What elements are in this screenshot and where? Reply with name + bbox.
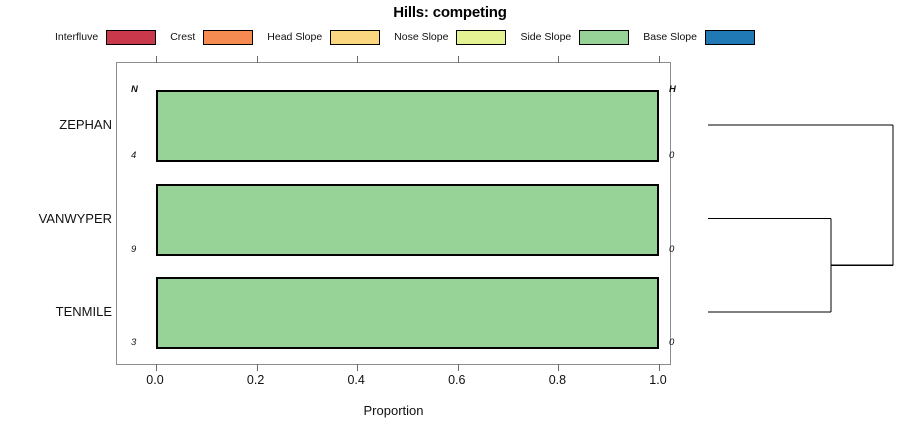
h-value: 0 xyxy=(669,337,674,348)
x-axis-tick xyxy=(156,364,157,371)
legend-color-swatch xyxy=(456,30,506,45)
bar-row xyxy=(117,277,670,349)
x-axis-tick xyxy=(357,364,358,371)
x-axis-tick xyxy=(558,364,559,371)
h-column-header: H xyxy=(669,84,676,95)
x-axis-tick-top xyxy=(458,56,459,63)
x-axis-tick-top xyxy=(257,56,258,63)
legend-label: Nose Slope xyxy=(394,31,448,43)
h-value: 0 xyxy=(669,244,674,255)
n-column-header: N xyxy=(131,84,138,95)
n-value: 3 xyxy=(131,337,136,348)
y-axis-label: VANWYPER xyxy=(0,211,112,226)
x-axis-tick-top xyxy=(659,56,660,63)
x-axis-tick-label: 0.0 xyxy=(125,373,185,387)
bar-segment xyxy=(156,90,659,162)
legend-color-swatch xyxy=(330,30,380,45)
legend-label: Side Slope xyxy=(520,31,571,43)
x-axis-tick-label: 0.4 xyxy=(326,373,386,387)
x-axis-tick-top xyxy=(156,56,157,63)
x-axis-tick xyxy=(257,364,258,371)
y-axis-labels: ZEPHANVANWYPERTENMILE xyxy=(0,0,112,440)
chart-page: Hills: competing InterfluveCrestHead Slo… xyxy=(0,0,900,440)
x-axis-tick-top xyxy=(558,56,559,63)
legend-color-swatch xyxy=(106,30,156,45)
x-axis-tick-label: 0.8 xyxy=(527,373,587,387)
x-axis-tick-label: 0.2 xyxy=(226,373,286,387)
legend-color-swatch xyxy=(203,30,253,45)
y-axis-label: TENMILE xyxy=(0,304,112,319)
legend-entry: Nose Slope xyxy=(394,30,506,45)
n-value: 9 xyxy=(131,244,136,255)
bar-row xyxy=(117,184,670,256)
legend-label: Head Slope xyxy=(267,31,322,43)
h-value: 0 xyxy=(669,150,674,161)
plot-panel: NH409030 xyxy=(116,62,671,365)
bar-segment xyxy=(156,184,659,256)
dendrogram xyxy=(690,0,900,440)
legend: InterfluveCrestHead SlopeNose SlopeSide … xyxy=(55,27,765,47)
legend-label: Base Slope xyxy=(643,31,697,43)
x-axis-tick-top xyxy=(357,56,358,63)
legend-entry: Head Slope xyxy=(267,30,380,45)
x-axis-tick-label: 1.0 xyxy=(628,373,688,387)
x-axis-title: Proportion xyxy=(116,403,671,418)
bar-row xyxy=(117,90,670,162)
n-value: 4 xyxy=(131,150,136,161)
legend-entry: Crest xyxy=(170,30,253,45)
legend-entry: Side Slope xyxy=(520,30,629,45)
x-axis-tick xyxy=(659,364,660,371)
y-axis-label: ZEPHAN xyxy=(0,117,112,132)
x-axis-tick xyxy=(458,364,459,371)
x-axis-tick-label: 0.6 xyxy=(427,373,487,387)
legend-label: Crest xyxy=(170,31,195,43)
bar-segment xyxy=(156,277,659,349)
legend-color-swatch xyxy=(579,30,629,45)
